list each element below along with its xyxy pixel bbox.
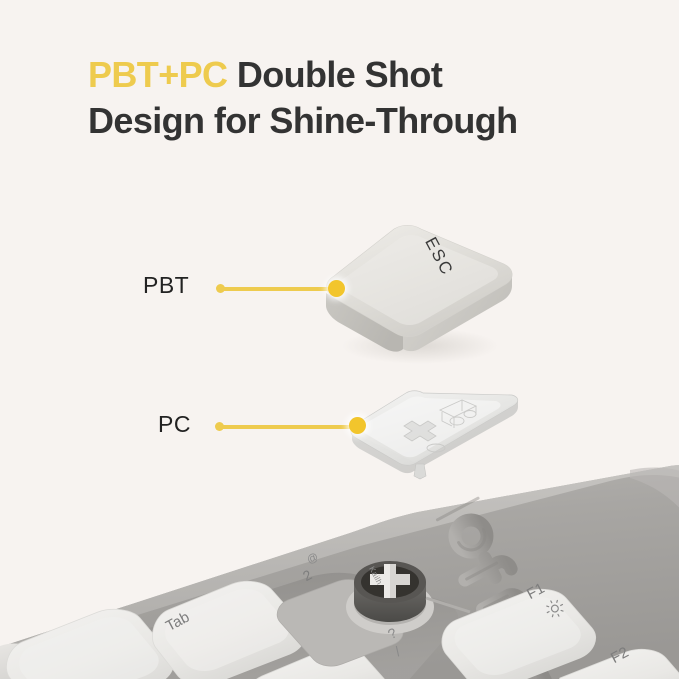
callout-dot-start-pbt bbox=[216, 284, 225, 293]
esc-keycap-pbt: ESC bbox=[320, 218, 520, 363]
callout-leader-line-pc bbox=[218, 425, 358, 429]
headline-accent-text: PBT+PC bbox=[88, 54, 227, 95]
page-title: PBT+PC Double Shot Design for Shine-Thro… bbox=[88, 52, 648, 144]
callout-dot-end-pc bbox=[349, 417, 366, 434]
callout-label-pbt: PBT bbox=[143, 272, 189, 299]
headline-line-1: PBT+PC Double Shot bbox=[88, 52, 648, 98]
callout-dot-end-pbt bbox=[328, 280, 345, 297]
headline-line-1-rest: Double Shot bbox=[227, 54, 442, 95]
callout-leader-line-pbt bbox=[219, 287, 337, 291]
callout-dot-start-pc bbox=[215, 422, 224, 431]
product-marketing-image: PBT+PC Double Shot Design for Shine-Thro… bbox=[0, 0, 679, 679]
headline-line-2: Design for Shine-Through bbox=[88, 98, 648, 144]
keyboard-body bbox=[0, 430, 679, 679]
callout-label-pc: PC bbox=[158, 411, 191, 438]
